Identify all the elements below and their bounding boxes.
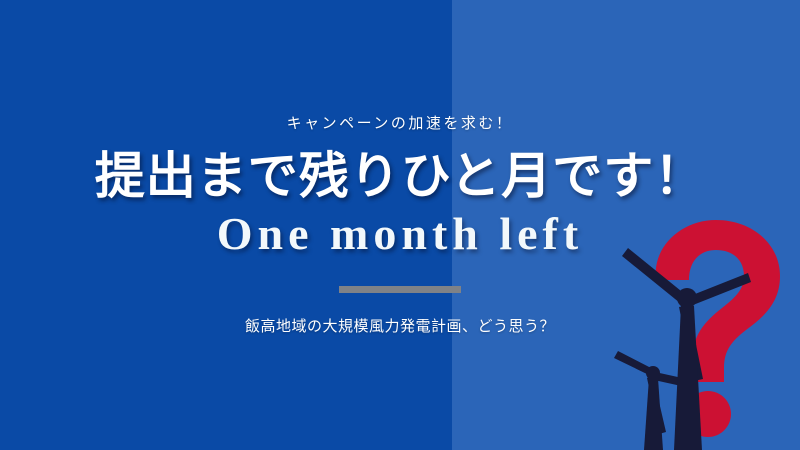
banner-divider bbox=[339, 286, 461, 293]
banner-headline-japanese: 提出まで残りひと月です！ bbox=[95, 149, 706, 203]
promo-banner: キャンペーンの加速を求む！ 提出まで残りひと月です！ One month lef… bbox=[0, 0, 800, 450]
banner-headline-english: One month left bbox=[217, 209, 583, 260]
banner-kicker: キャンペーンの加速を求む！ bbox=[287, 116, 514, 131]
banner-content: キャンペーンの加速を求む！ 提出まで残りひと月です！ One month lef… bbox=[0, 0, 800, 450]
banner-subtitle: 飯高地域の大規模風力発電計画、どう思う？ bbox=[245, 319, 555, 334]
